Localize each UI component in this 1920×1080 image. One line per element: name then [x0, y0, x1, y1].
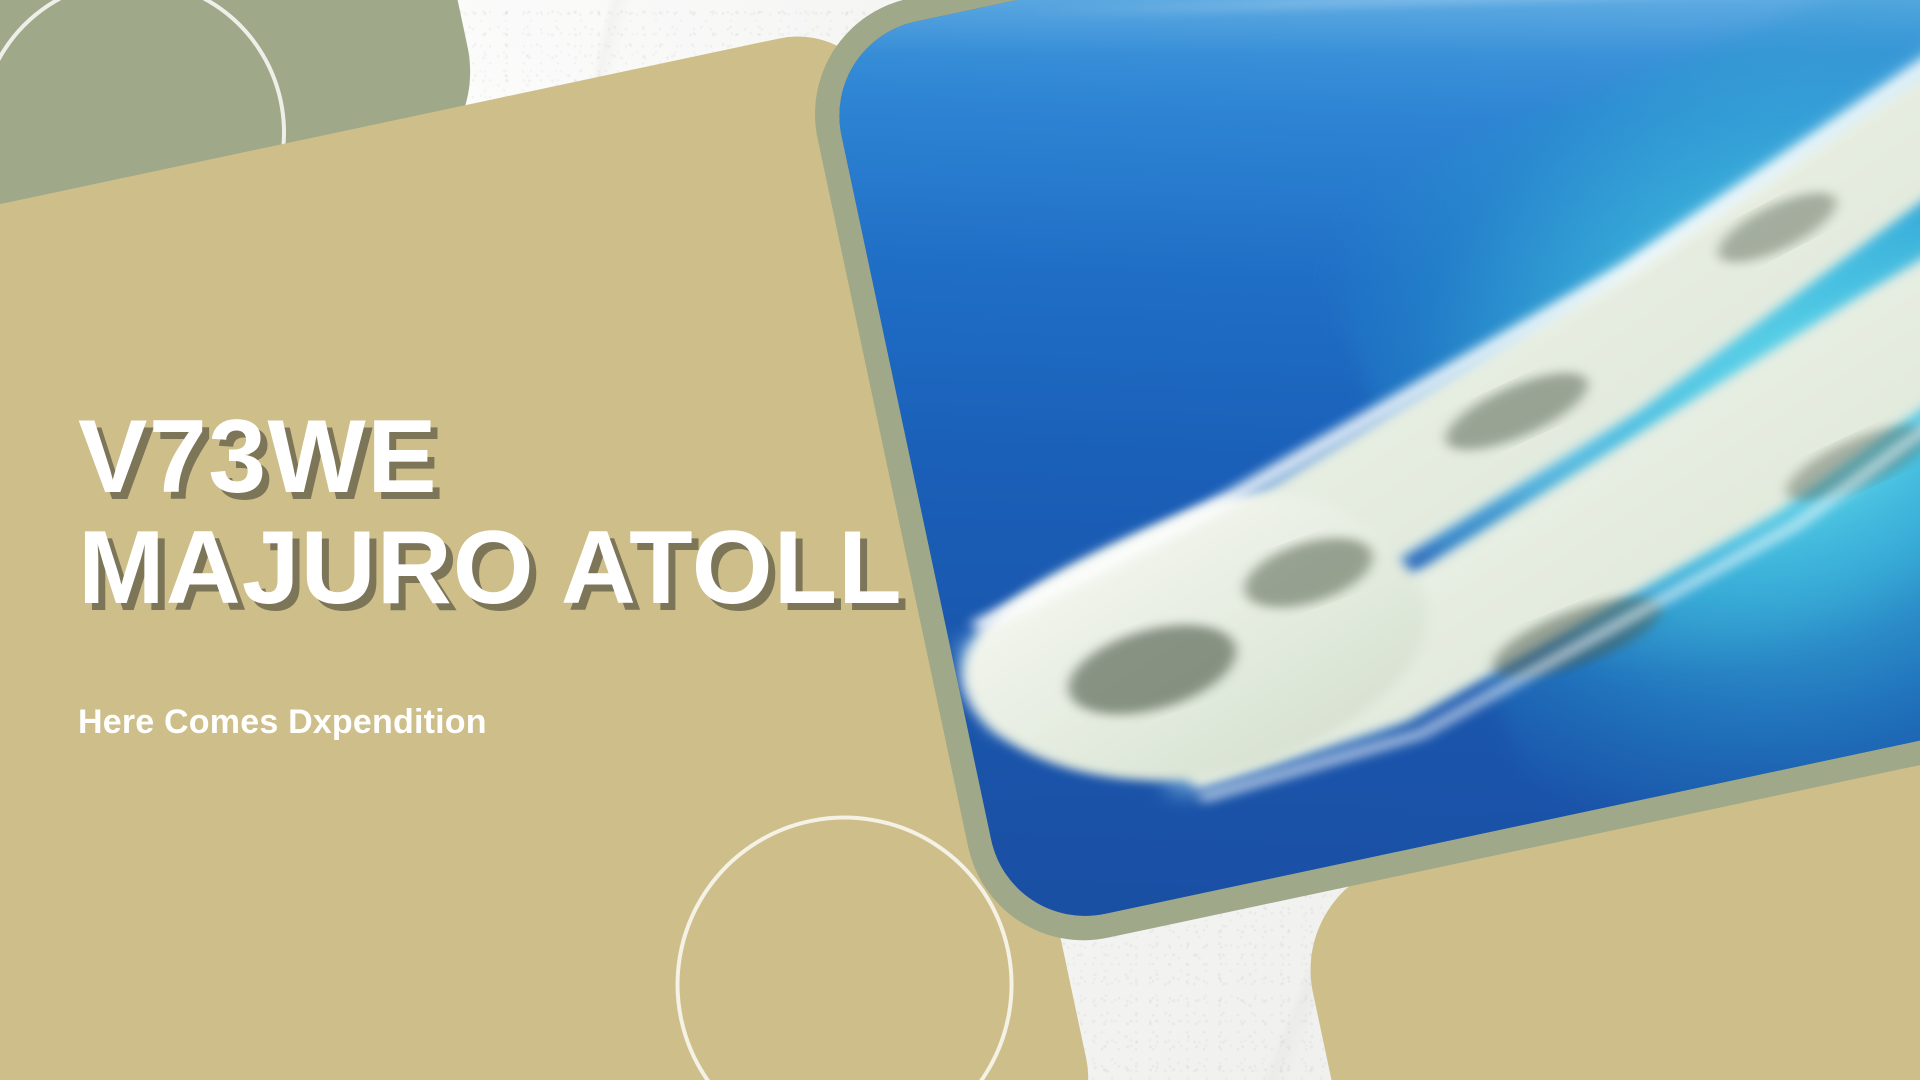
headline-line-1: V73WE [78, 402, 998, 513]
poster-canvas: V73WE MAJURO ATOLL Here Comes Dxpenditio… [0, 0, 1920, 1080]
poster-subtitle: Here Comes Dxpendition [78, 625, 998, 742]
poster-text-block: V73WE MAJURO ATOLL Here Comes Dxpenditio… [78, 402, 998, 742]
reef-landmass [916, 0, 1920, 895]
headline-line-2: MAJURO ATOLL [78, 513, 998, 624]
